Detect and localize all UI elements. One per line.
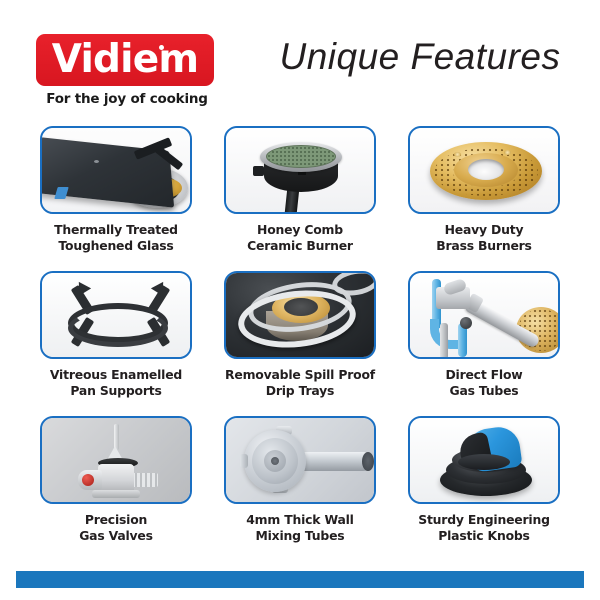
pan-support-photo [42,273,190,357]
logo-wordmark: Vidiem [36,34,214,86]
feature-caption: Vitreous Enamelled Pan Supports [50,367,182,398]
feature-card-vitreous-enamelled-pan-supports[interactable] [40,271,192,359]
feature-cell-4mm-thick-wall-mixing-tubes: 4mm Thick Wall Mixing Tubes [212,416,388,561]
feature-caption: Sturdy Engineering Plastic Knobs [418,512,550,543]
logo-accent-dot-icon [159,45,164,50]
brand-tagline: For the joy of cooking [36,91,218,107]
feature-caption: Heavy Duty Brass Burners [436,222,531,253]
feature-card-heavy-duty-brass-burners[interactable] [408,126,560,214]
feature-caption: 4mm Thick Wall Mixing Tubes [246,512,353,543]
feature-cell-precision-gas-valves: Precision Gas Valves [28,416,204,561]
feature-card-honey-comb-ceramic-burner[interactable] [224,126,376,214]
brass-burner-photo [410,128,558,212]
feature-cell-heavy-duty-brass-burners: Heavy Duty Brass Burners [396,126,572,271]
feature-grid: Thermally Treated Toughened Glass Honey … [0,126,600,561]
feature-caption: Thermally Treated Toughened Glass [54,222,178,253]
feature-poster: Vidiem For the joy of cooking Unique Fea… [0,0,600,600]
mixing-tube-photo [226,418,374,502]
feature-cell-honey-comb-ceramic-burner: Honey Comb Ceramic Burner [212,126,388,271]
vidiem-logo: Vidiem [36,34,214,86]
feature-card-sturdy-engineering-plastic-knobs[interactable] [408,416,560,504]
feature-card-direct-flow-gas-tubes[interactable] [408,271,560,359]
glass-cooktop-photo [42,128,190,212]
plastic-knob-photo [410,418,558,502]
feature-caption: Precision Gas Valves [79,512,153,543]
drip-tray-photo [226,273,374,357]
feature-card-thermally-treated-toughened-glass[interactable] [40,126,192,214]
feature-card-precision-gas-valves[interactable] [40,416,192,504]
brand-block: Vidiem For the joy of cooking [36,34,218,107]
feature-card-removable-spill-proof-drip-trays[interactable] [224,271,376,359]
feature-caption: Honey Comb Ceramic Burner [247,222,353,253]
ceramic-burner-photo [226,128,374,212]
feature-card-4mm-thick-wall-mixing-tubes[interactable] [224,416,376,504]
feature-cell-thermally-treated-toughened-glass: Thermally Treated Toughened Glass [28,126,204,271]
feature-cell-vitreous-enamelled-pan-supports: Vitreous Enamelled Pan Supports [28,271,204,416]
poster-header: Vidiem For the joy of cooking Unique Fea… [0,0,600,118]
gas-valve-photo [42,418,190,502]
feature-caption: Direct Flow Gas Tubes [445,367,522,398]
feature-cell-sturdy-engineering-plastic-knobs: Sturdy Engineering Plastic Knobs [396,416,572,561]
gas-tube-photo [410,273,558,357]
footer-accent-bar [16,571,584,588]
feature-cell-direct-flow-gas-tubes: Direct Flow Gas Tubes [396,271,572,416]
feature-caption: Removable Spill Proof Drip Trays [225,367,375,398]
page-title: Unique Features [255,36,585,78]
feature-cell-removable-spill-proof-drip-trays: Removable Spill Proof Drip Trays [212,271,388,416]
